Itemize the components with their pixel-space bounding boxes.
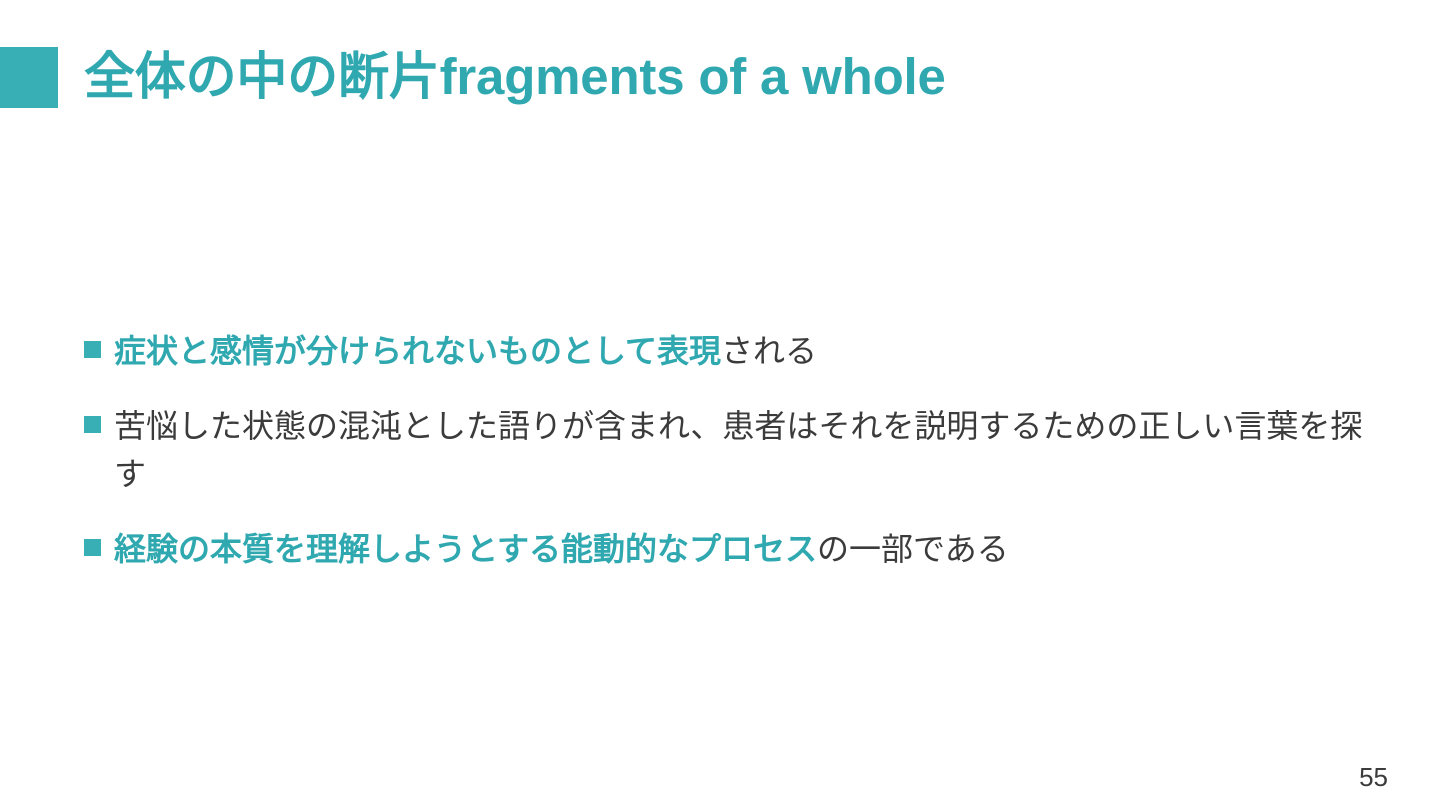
slide-title-row: 全体の中の断片fragments of a whole [0, 34, 1440, 120]
list-item-plain-segment: の一部である [817, 531, 1009, 567]
square-bullet-icon [84, 341, 101, 358]
list-item-accent-segment: 症状と感情が分けられないものとして表現 [114, 333, 721, 369]
page-title: 全体の中の断片fragments of a whole [84, 49, 1440, 104]
list-item: 症状と感情が分けられないものとして表現される [84, 327, 1374, 376]
page-title-japanese: 全体の中の断片 [84, 48, 440, 105]
list-item-text: 経験の本質を理解しようとする能動的なプロセスの一部である [114, 525, 1374, 574]
square-bullet-icon [84, 539, 101, 556]
list-item-text: 症状と感情が分けられないものとして表現される [114, 327, 1374, 376]
title-accent-square [0, 47, 58, 108]
page-number: 55 [1359, 764, 1388, 790]
list-item: 苦悩した状態の混沌とした語りが含まれ、患者はそれを説明するための正しい言葉を探す [84, 402, 1374, 499]
list-item-text: 苦悩した状態の混沌とした語りが含まれ、患者はそれを説明するための正しい言葉を探す [114, 402, 1374, 499]
list-item-plain-segment: される [721, 333, 817, 369]
page-title-english: fragments of a whole [440, 48, 946, 105]
slide-canvas: 全体の中の断片fragments of a whole 症状と感情が分けられない… [0, 0, 1440, 810]
bullet-list: 症状と感情が分けられないものとして表現される 苦悩した状態の混沌とした語りが含ま… [84, 327, 1374, 574]
list-item: 経験の本質を理解しようとする能動的なプロセスの一部である [84, 525, 1374, 574]
list-item-accent-segment: 経験の本質を理解しようとする能動的なプロセス [114, 531, 817, 567]
square-bullet-icon [84, 416, 101, 433]
list-item-plain-segment: 苦悩した状態の混沌とした語りが含まれ、患者はそれを説明するための正しい言葉を探す [114, 408, 1362, 493]
